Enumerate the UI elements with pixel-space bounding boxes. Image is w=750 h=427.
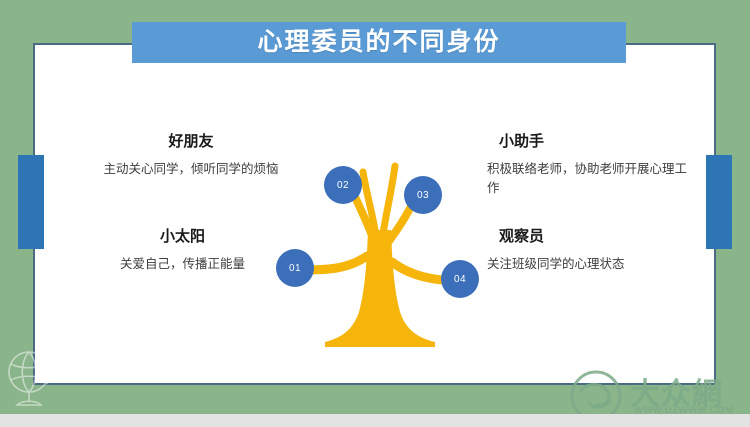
role-body-little-sun: 关爱自己，传播正能量 [60,255,305,274]
globe-icon [2,348,64,410]
slide-canvas: 心理委员的不同身份 01 02 [0,0,750,414]
tree-trunk [325,230,435,347]
node-03-label: 03 [417,190,429,201]
node-02-label: 02 [337,180,349,191]
role-block-assistant: 小助手 积极联络老师，协助老师开展心理工作 [487,133,697,199]
role-block-good-friend: 好朋友 主动关心同学，倾听同学的烦恼 [60,133,322,179]
bottom-strip [0,414,750,427]
node-04[interactable]: 04 [441,260,479,298]
role-body-good-friend: 主动关心同学，倾听同学的烦恼 [60,160,322,179]
role-heading-observer: 观察员 [499,228,702,246]
role-body-observer: 关注班级同学的心理状态 [487,255,702,274]
node-04-label: 04 [454,274,466,285]
role-body-assistant: 积极联络老师，协助老师开展心理工作 [487,160,697,199]
node-03[interactable]: 03 [404,176,442,214]
watermark-url: WWW.DZWWW.COM [634,405,733,414]
role-heading-assistant: 小助手 [499,133,697,151]
accent-tab-right [706,155,732,249]
page-title: 心理委员的不同身份 [257,30,500,55]
title-banner: 心理委员的不同身份 [132,22,626,63]
accent-tab-left [18,155,44,249]
node-02[interactable]: 02 [324,166,362,204]
role-heading-little-sun: 小太阳 [60,228,305,246]
role-block-little-sun: 小太阳 关爱自己，传播正能量 [60,228,305,274]
role-block-observer: 观察员 关注班级同学的心理状态 [487,228,702,274]
role-heading-good-friend: 好朋友 [60,133,322,151]
